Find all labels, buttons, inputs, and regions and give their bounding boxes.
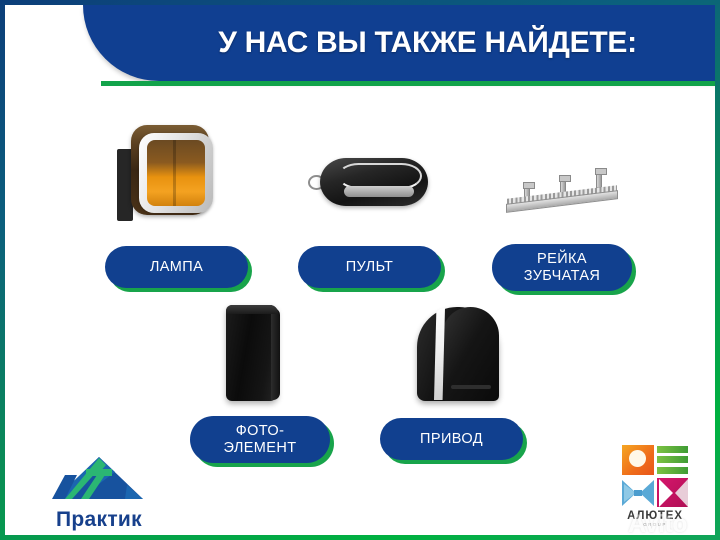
page-title: У НАС ВЫ ТАКЖЕ НАЙДЕТЕ: <box>83 5 715 81</box>
label-photocell-line2: ЭЛЕМЕНТ <box>223 440 296 456</box>
gear-rack-icon <box>502 163 626 215</box>
signal-lamp-icon <box>113 123 233 227</box>
remote-keyfob-icon <box>308 155 434 213</box>
poster-canvas: У НАС ВЫ ТАКЖЕ НАЙДЕТЕ: <box>5 5 715 535</box>
label-photocell-line1: ФОТО- <box>236 423 285 439</box>
alutech-brand-subtitle: GROUP <box>617 522 693 527</box>
alutech-square-green <box>657 445 689 475</box>
product-lamp[interactable] <box>113 123 233 227</box>
label-photocell[interactable]: ФОТО- ЭЛЕМЕНТ <box>190 416 330 463</box>
label-remote[interactable]: ПУЛЬТ <box>298 246 441 288</box>
header-accent-line <box>101 81 715 86</box>
label-drive[interactable]: ПРИВОД <box>380 418 523 460</box>
praktik-mountain-logo <box>39 455 159 501</box>
product-photocell[interactable] <box>220 305 290 405</box>
label-lamp-text: ЛАМПА <box>105 246 248 288</box>
label-remote-text: ПУЛЬТ <box>298 246 441 288</box>
alutech-square-crimson <box>657 478 689 508</box>
label-rack-text: РЕЙКА ЗУБЧАТАЯ <box>492 244 632 291</box>
alutech-brand: АЛЮТЕХ GROUP <box>617 445 693 527</box>
poster-frame: У НАС ВЫ ТАКЖЕ НАЙДЕТЕ: <box>0 0 720 540</box>
alutech-square-blue <box>622 478 654 508</box>
alutech-square-orange <box>622 445 654 475</box>
label-rack-line1: РЕЙКА <box>537 251 587 267</box>
photocell-icon <box>220 305 290 405</box>
praktik-brand: Практик <box>39 455 159 532</box>
product-remote[interactable] <box>308 155 434 213</box>
header-banner: У НАС ВЫ ТАКЖЕ НАЙДЕТЕ: <box>83 5 715 81</box>
alutech-four-square-logo <box>622 445 688 507</box>
label-rack[interactable]: РЕЙКА ЗУБЧАТАЯ <box>492 244 632 291</box>
label-lamp[interactable]: ЛАМПА <box>105 246 248 288</box>
label-rack-line2: ЗУБЧАТАЯ <box>524 268 601 284</box>
alutech-brand-name: АЛЮТЕХ <box>617 510 693 522</box>
gate-drive-motor-icon <box>413 305 505 405</box>
praktik-brand-name: Практик <box>39 508 159 532</box>
label-photocell-text: ФОТО- ЭЛЕМЕНТ <box>190 416 330 463</box>
product-rack[interactable] <box>502 163 626 215</box>
product-drive[interactable] <box>413 305 505 405</box>
label-drive-text: ПРИВОД <box>380 418 523 460</box>
